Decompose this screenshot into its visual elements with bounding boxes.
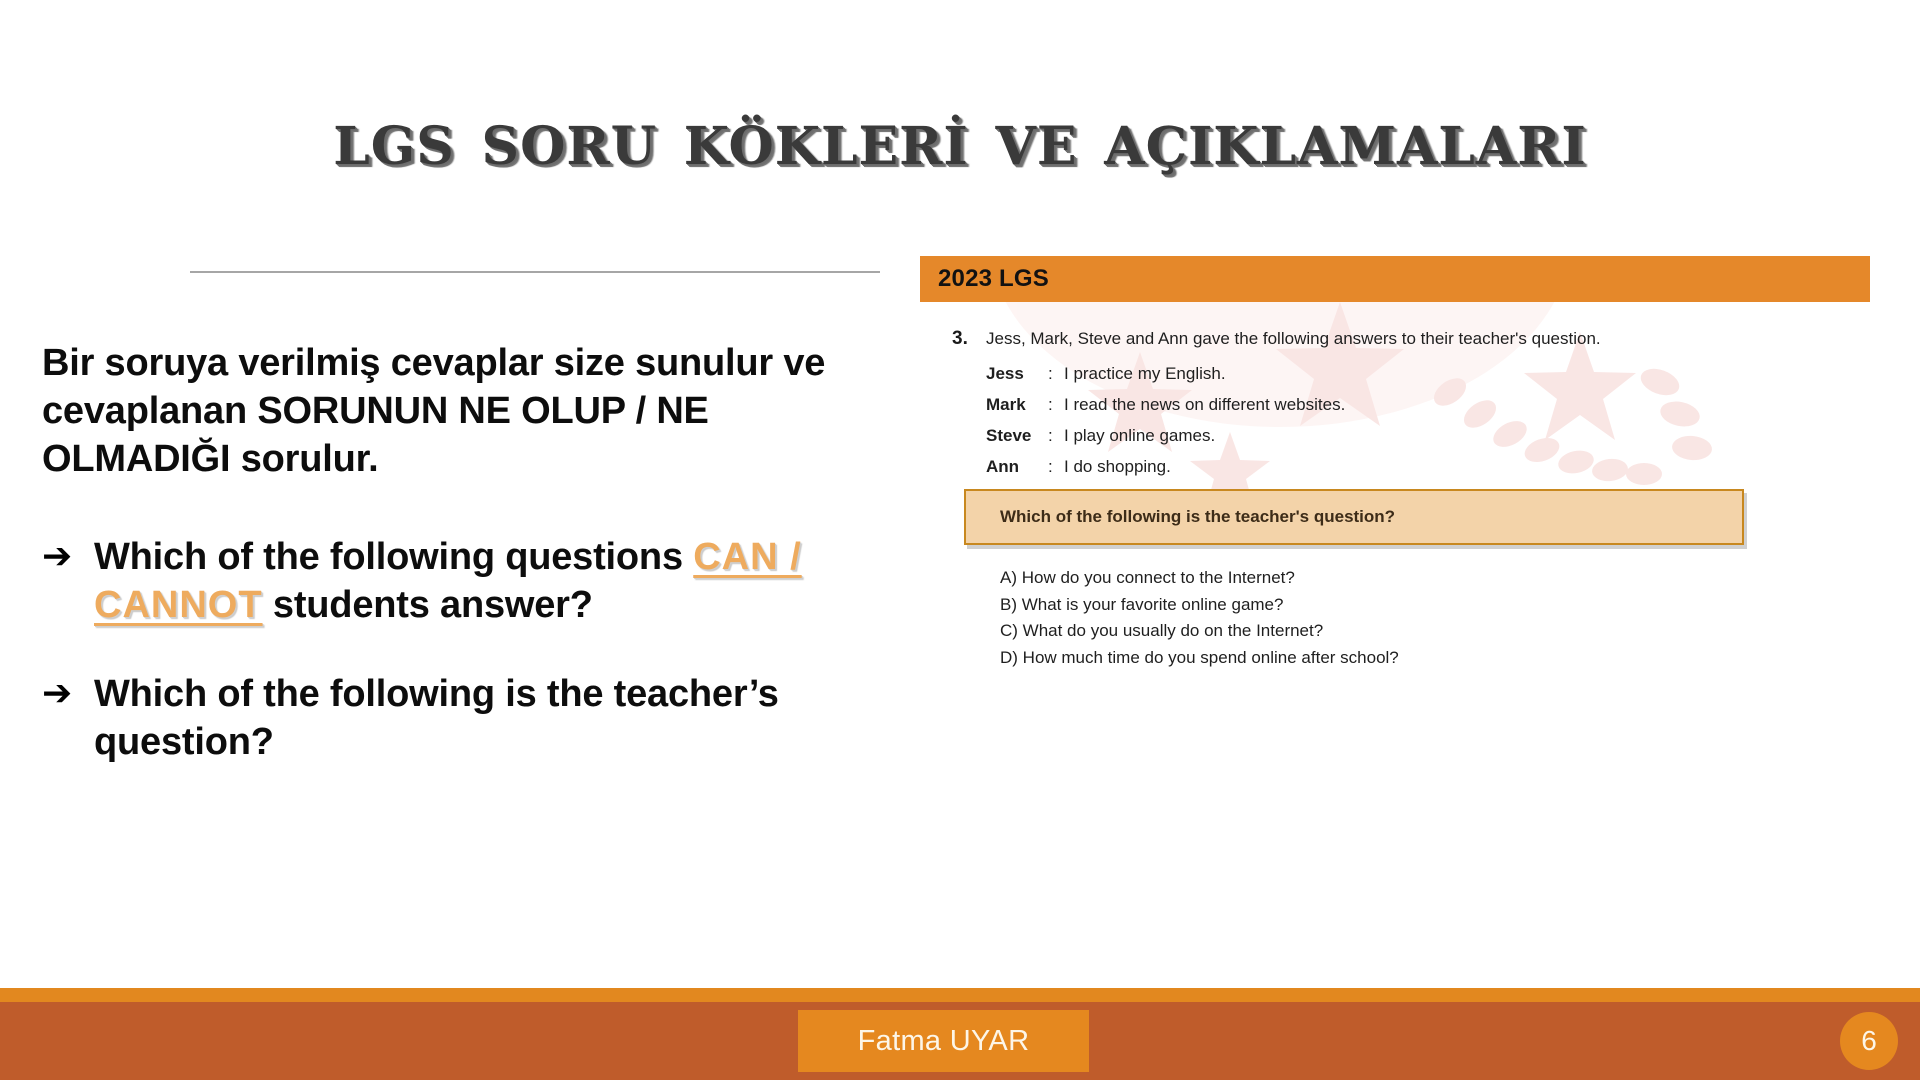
bullet-list: ➔ Which of the following questions CAN /… <box>42 534 832 768</box>
exam-banner-label: 2023 LGS <box>938 265 1049 293</box>
answer-options: A) How do you connect to the Internet? B… <box>920 567 1870 669</box>
speaker-name: Ann <box>986 457 1048 477</box>
list-item: A) How do you connect to the Internet? <box>1000 567 1870 590</box>
page-number: 6 <box>1861 1025 1877 1057</box>
list-item: Steve : I play online games. <box>986 426 1870 446</box>
list-item: ➔ Which of the following questions CAN /… <box>42 534 832 630</box>
author-name: Fatma UYAR <box>858 1025 1030 1058</box>
bullet-text-post: students answer? <box>263 584 593 626</box>
exam-excerpt: 2023 LGS <box>920 256 1870 684</box>
author-badge: Fatma UYAR <box>798 1010 1089 1072</box>
explanation-paragraph: Bir soruya verilmiş cevaplar size sunulu… <box>42 340 832 484</box>
list-item: D) How much time do you spend online aft… <box>1000 647 1870 670</box>
list-item: ➔ Which of the following is the teacher’… <box>42 671 832 767</box>
speaker-name: Steve <box>986 426 1048 446</box>
speaker-list: Jess : I practice my English. Mark : I r… <box>920 364 1870 477</box>
speaker-colon: : <box>1048 457 1064 477</box>
exam-body: 3. Jess, Mark, Steve and Ann gave the fo… <box>920 302 1870 684</box>
arrow-right-icon: ➔ <box>42 671 94 716</box>
exam-banner: 2023 LGS <box>920 256 1870 302</box>
list-item: Mark : I read the news on different webs… <box>986 395 1870 415</box>
question-stem-row: 3. Jess, Mark, Steve and Ann gave the fo… <box>920 328 1870 350</box>
bullet-text: Which of the following is the teacher’s … <box>94 671 832 767</box>
speaker-colon: : <box>1048 395 1064 415</box>
question-stem: Jess, Mark, Steve and Ann gave the follo… <box>986 328 1601 350</box>
footer-bar: Fatma UYAR 6 <box>0 1002 1920 1080</box>
speaker-name: Mark <box>986 395 1048 415</box>
speaker-colon: : <box>1048 364 1064 384</box>
list-item: Jess : I practice my English. <box>986 364 1870 384</box>
bullet-text: Which of the following questions CAN / C… <box>94 534 832 630</box>
speaker-colon: : <box>1048 426 1064 446</box>
speaker-line: I do shopping. <box>1064 457 1171 477</box>
speaker-line: I play online games. <box>1064 426 1215 446</box>
list-item: B) What is your favorite online game? <box>1000 594 1870 617</box>
highlighted-question-text: Which of the following is the teacher's … <box>1000 507 1395 526</box>
section-divider <box>190 271 880 273</box>
question-number: 3. <box>952 328 986 350</box>
list-item: Ann : I do shopping. <box>986 457 1870 477</box>
page-number-badge: 6 <box>1840 1012 1898 1070</box>
speaker-name: Jess <box>986 364 1048 384</box>
left-content-column: Bir soruya verilmiş cevaplar size sunulu… <box>42 340 832 809</box>
speaker-line: I read the news on different websites. <box>1064 395 1345 415</box>
page-title: LGS SORU KÖKLERİ VE AÇIKLAMALARI <box>0 102 1920 176</box>
arrow-right-icon: ➔ <box>42 534 94 579</box>
highlighted-question-box: Which of the following is the teacher's … <box>964 489 1744 545</box>
speaker-line: I practice my English. <box>1064 364 1226 384</box>
footer-accent-strip <box>0 988 1920 1002</box>
list-item: C) What do you usually do on the Interne… <box>1000 620 1870 643</box>
bullet-text-pre: Which of the following questions <box>94 536 683 578</box>
